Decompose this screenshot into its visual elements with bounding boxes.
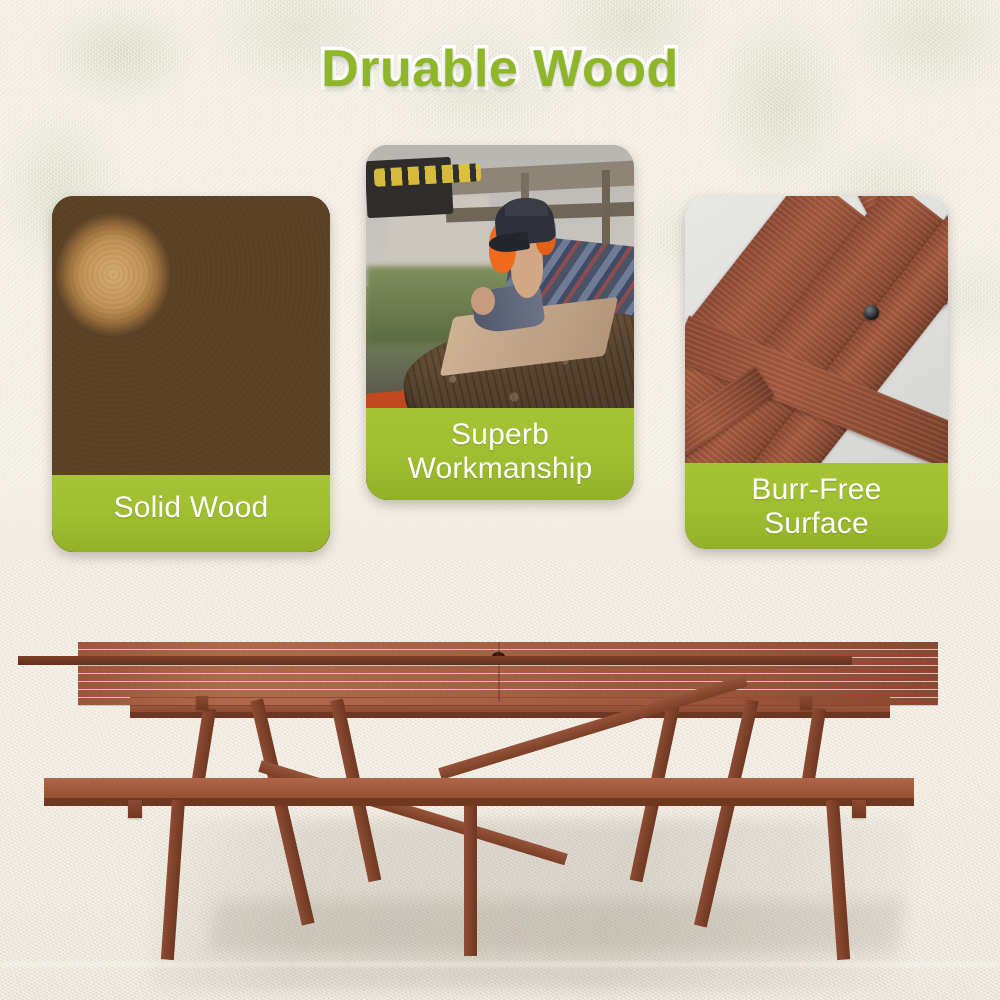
feature-label-line: Burr-Free [691,473,942,507]
feature-label-line: Workmanship [372,452,628,486]
leg-front-right-outer [694,699,759,928]
leg-center-front [464,806,477,956]
bench-front-seat [44,778,914,800]
leg-bench-front-right [826,800,850,961]
infographic-canvas: Druable Wood Solid Wood [0,0,1000,1000]
tabletop-slat [78,642,938,649]
leg-bench-front-left [161,800,185,961]
leg-front-left-outer [250,699,314,926]
worker-ear-muff-band [505,198,548,216]
feature-label-line: Solid Wood [58,491,324,525]
feature-label-solid-wood: Solid Wood [52,475,330,552]
tabletop-slat [78,674,938,681]
bench-rear-edge [130,712,890,718]
brace-diagonal-left [258,760,568,865]
feature-label-line: Superb [372,418,628,452]
feature-label-burr-free-surface: Burr-Free Surface [685,463,948,549]
bench-support-block-left [128,800,142,818]
headline-container: Druable Wood [0,42,1000,97]
page-title: Druable Wood [321,42,678,97]
tabletop-front-edge [18,656,852,665]
feature-label-line: Surface [691,507,942,541]
feature-card-superb-workmanship: Superb Workmanship [366,145,634,500]
hero-picnic-table [0,600,1000,1000]
feature-card-solid-wood: Solid Wood [52,196,330,552]
worker-hand [471,287,495,315]
feature-card-burr-free-surface: Burr-Free Surface [685,196,948,549]
bench-support-block-right [852,800,866,818]
tabletop [78,642,938,704]
tabletop-support-block-left [196,696,208,710]
tabletop-center-seam [498,642,500,702]
tabletop-slat [78,666,938,673]
tabletop-support-block-right [800,696,812,710]
tabletop-slat [78,682,938,689]
feature-label-superb-workmanship: Superb Workmanship [366,408,634,500]
